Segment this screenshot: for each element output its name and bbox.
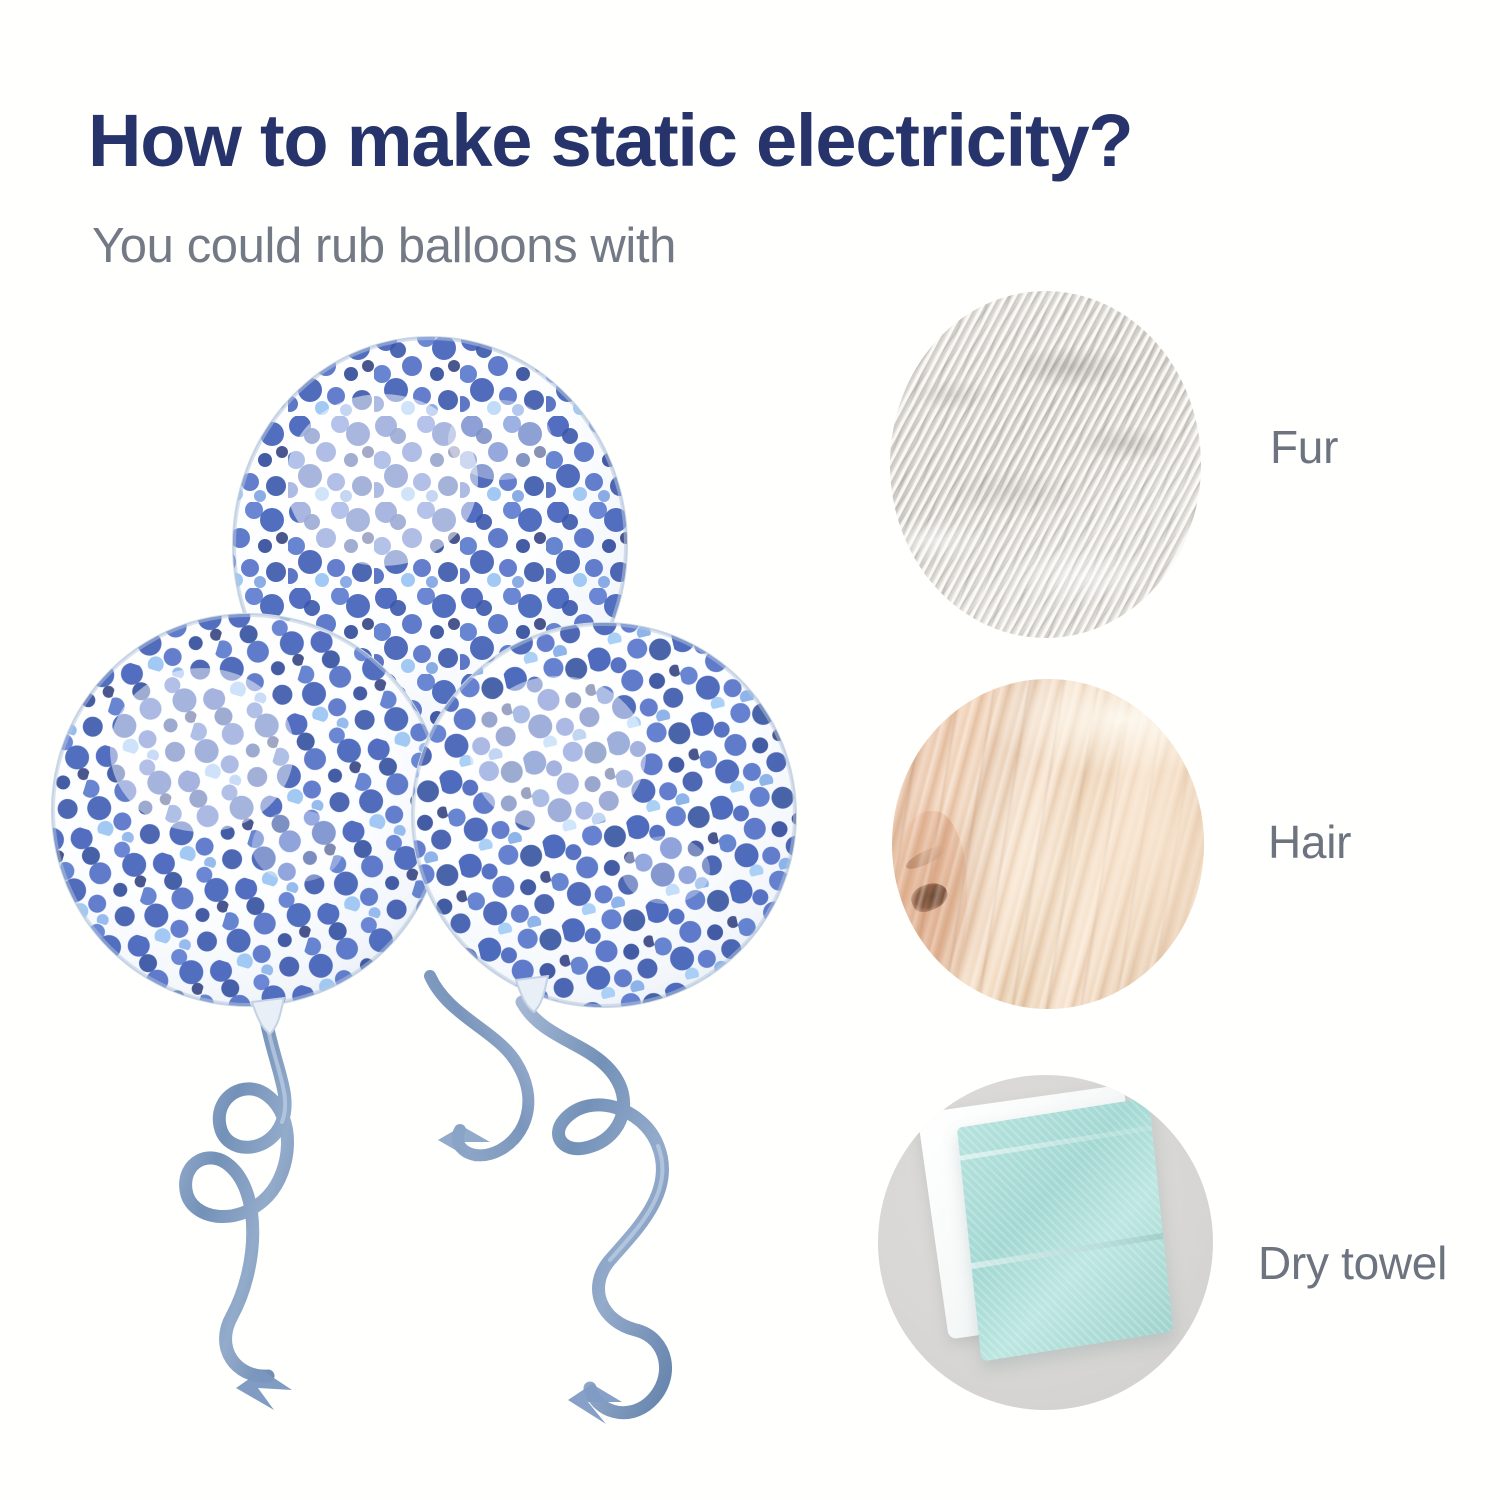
mint-towel bbox=[957, 1097, 1174, 1361]
confetti-balloons-illustration bbox=[30, 330, 830, 1490]
hair-label: Hair bbox=[1268, 819, 1351, 865]
hair-image bbox=[892, 679, 1204, 1009]
ribbon-middle bbox=[430, 976, 528, 1155]
fur-texture-overlay bbox=[890, 291, 1201, 638]
towel-fold-bottom bbox=[971, 1233, 1164, 1269]
balloon-right-highlight-2 bbox=[622, 836, 710, 904]
dry-towel-label: Dry towel bbox=[1258, 1240, 1447, 1286]
balloons-svg bbox=[30, 330, 830, 1490]
fur-image bbox=[890, 291, 1201, 638]
ribbon-right bbox=[522, 1002, 666, 1413]
infographic-canvas: How to make static electricity? You coul… bbox=[0, 0, 1500, 1500]
balloon-right bbox=[410, 620, 810, 1020]
dry-towel-image bbox=[878, 1075, 1213, 1410]
balloon-top-highlight-2 bbox=[448, 400, 552, 480]
balloon-ribbons bbox=[186, 976, 666, 1424]
towel-fold-top bbox=[960, 1125, 1153, 1160]
balloon-left bbox=[50, 610, 450, 1034]
ribbon-left bbox=[186, 1020, 288, 1376]
hair-sheen-overlay bbox=[892, 679, 1204, 1009]
balloon-left-highlight bbox=[110, 668, 294, 832]
balloon-left-knot bbox=[252, 998, 284, 1034]
balloon-left-highlight-2 bbox=[252, 810, 344, 882]
fur-label: Fur bbox=[1270, 424, 1338, 470]
balloon-top-highlight bbox=[286, 394, 478, 566]
balloon-right-highlight bbox=[470, 676, 646, 832]
page-title: How to make static electricity? bbox=[88, 104, 1132, 178]
page-subtitle: You could rub balloons with bbox=[92, 222, 676, 271]
